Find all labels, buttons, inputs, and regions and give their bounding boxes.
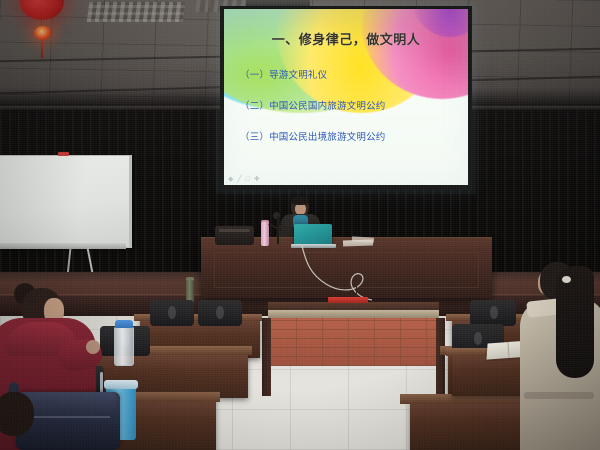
backpack-zipper <box>24 416 110 418</box>
red-object <box>328 297 368 303</box>
pen-icon[interactable]: ◆ <box>228 175 233 183</box>
slides-icon[interactable]: □ <box>246 176 250 183</box>
slide-title: 一、修身律己，做文明人 <box>224 29 468 48</box>
chair-back-detail <box>168 306 176 319</box>
travel-mug-lid <box>104 380 138 389</box>
clear-water-bottle <box>114 326 134 366</box>
student-right-belt <box>524 392 594 399</box>
student-left-hand <box>86 340 100 354</box>
hair-clip-icon <box>562 276 571 283</box>
lantern-tassel <box>41 39 43 58</box>
equipment-case-highlight <box>219 229 250 232</box>
backpack-flap <box>20 392 116 414</box>
slide-bullet-1: （一）导游文明礼仪 <box>240 67 458 81</box>
chair-back-detail <box>474 332 482 345</box>
air-vent-grille-icon <box>87 2 185 22</box>
slide-bullet-list: （一）导游文明礼仪 （二）中国公民国内旅游文明公约 （三）中国公民出境旅游文明公… <box>240 67 458 160</box>
water-bottle-cap <box>115 320 133 328</box>
pillar-side-left <box>262 318 271 396</box>
slide-bullet-2: （二）中国公民国内旅游文明公约 <box>240 98 458 112</box>
presenter-fringe <box>291 196 309 205</box>
brick-pillar <box>270 318 437 366</box>
projection-screen: 一、修身律己，做文明人 （一）导游文明礼仪 （二）中国公民国内旅游文明公约 （三… <box>220 6 472 190</box>
student-right-hair <box>556 266 594 378</box>
chair-back-detail <box>490 306 498 319</box>
thermos-bottle <box>261 222 269 246</box>
chair-back-detail <box>216 306 224 319</box>
slide-bullet-3: （三）中国公民出境旅游文明公约 <box>240 129 458 143</box>
marker-icon[interactable]: ╱ <box>237 175 241 183</box>
student-bottom-left-head <box>0 392 34 436</box>
presentation-toolbar[interactable]: ◆ ╱ □ ✚ <box>228 175 260 183</box>
whiteboard-pen-tray <box>0 243 126 249</box>
red-lantern-small-icon <box>34 26 51 40</box>
papers-stack <box>352 236 374 242</box>
pointer-icon[interactable]: ✚ <box>254 175 260 183</box>
microphone-stand <box>277 216 279 244</box>
laptop-base <box>291 244 336 248</box>
pillar-side-right <box>436 318 445 396</box>
slide-surface: 一、修身律己，做文明人 （一）导游文明礼仪 （二）中国公民国内旅游文明公约 （三… <box>224 9 468 185</box>
lecture-hall-photo: 一、修身律己，做文明人 （一）导游文明礼仪 （二）中国公民国内旅游文明公约 （三… <box>0 0 600 450</box>
laptop-lid:  <box>294 224 332 246</box>
lectern-front-panel <box>214 252 479 288</box>
whiteboard <box>0 155 132 248</box>
whiteboard-marker-icon <box>58 152 69 156</box>
